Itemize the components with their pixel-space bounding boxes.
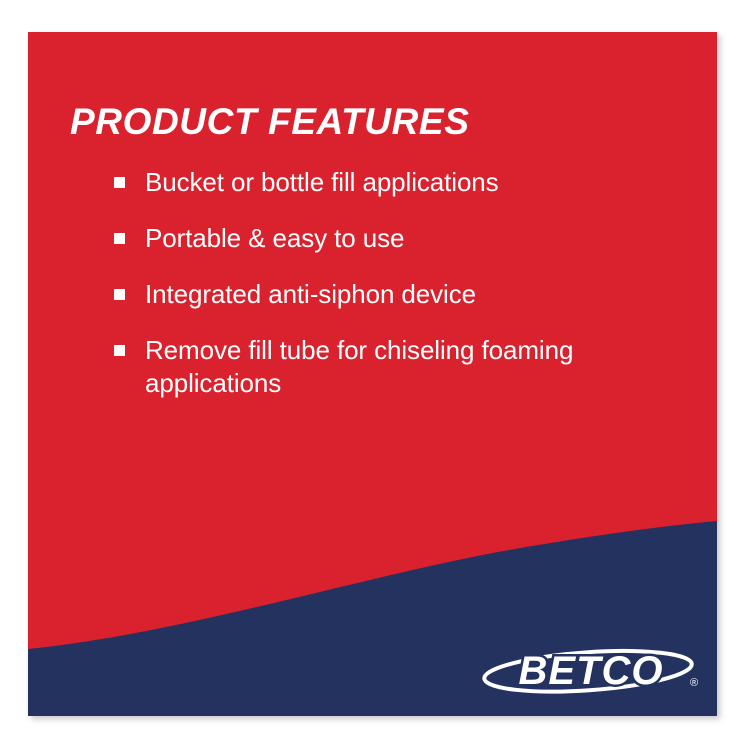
product-features-list: Bucket or bottle fill applications Porta…: [114, 166, 634, 400]
betco-logo: BETCO ®: [478, 642, 706, 700]
square-bullet-icon: [114, 289, 125, 300]
page-title: PRODUCT FEATURES: [70, 102, 469, 142]
logo-wordmark: BETCO: [519, 649, 664, 693]
list-item: Remove fill tube for chiseling foaming a…: [114, 334, 634, 400]
list-item: Portable & easy to use: [114, 222, 634, 255]
feature-text: Remove fill tube for chiseling foaming a…: [145, 334, 634, 400]
betco-logo-graphic: BETCO ®: [478, 642, 706, 700]
square-bullet-icon: [114, 233, 125, 244]
product-features-panel: PRODUCT FEATURES Bucket or bottle fill a…: [28, 32, 717, 716]
screenshot-canvas: PRODUCT FEATURES Bucket or bottle fill a…: [0, 0, 750, 750]
list-item: Bucket or bottle fill applications: [114, 166, 634, 199]
list-item: Integrated anti-siphon device: [114, 278, 634, 311]
registered-trademark-icon: ®: [690, 677, 698, 689]
feature-text: Integrated anti-siphon device: [145, 278, 634, 311]
square-bullet-icon: [114, 177, 125, 188]
feature-text: Portable & easy to use: [145, 222, 634, 255]
feature-text: Bucket or bottle fill applications: [145, 166, 634, 199]
square-bullet-icon: [114, 345, 125, 356]
